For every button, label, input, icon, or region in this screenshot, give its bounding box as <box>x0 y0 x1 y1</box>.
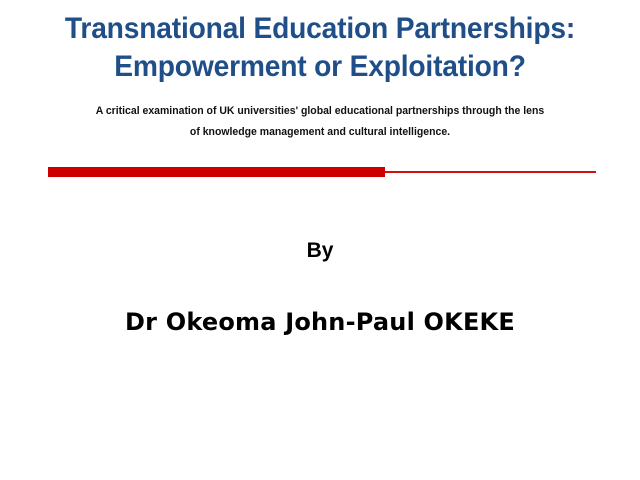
author-name: Dr Okeoma John-Paul OKEKE <box>0 306 640 338</box>
blank-content-area <box>0 350 640 480</box>
by-label: By <box>0 238 640 264</box>
title-line-2: Empowerment or Exploitation? <box>19 48 621 86</box>
title-line-1: Transnational Education Partnerships: <box>19 10 621 48</box>
subtitle-line-2: of knowledge management and cultural int… <box>64 122 576 143</box>
slide-title: Transnational Education Partnerships: Em… <box>0 10 640 86</box>
divider-thick-bar <box>48 167 385 177</box>
red-divider <box>48 167 596 178</box>
title-slide: Transnational Education Partnerships: Em… <box>0 0 640 480</box>
slide-subtitle: A critical examination of UK universitie… <box>56 101 584 143</box>
subtitle-line-1: A critical examination of UK universitie… <box>64 101 576 122</box>
